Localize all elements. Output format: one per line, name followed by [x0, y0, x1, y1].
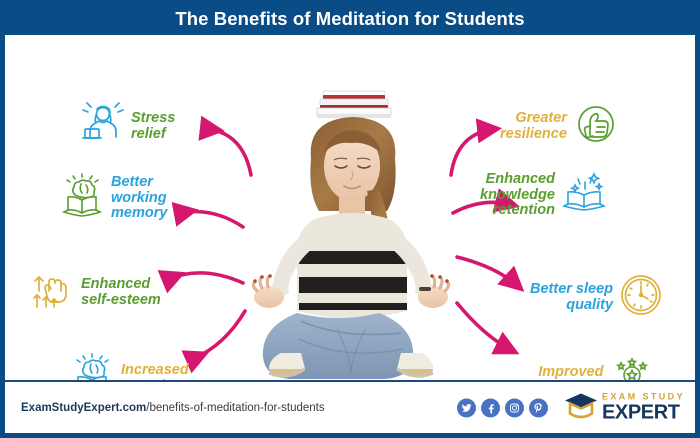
benefit-label: Greater resilience — [500, 111, 567, 142]
content-panel: Stress relief Better working memory — [4, 34, 696, 434]
logo-bottom-text: EXPERT — [602, 403, 685, 423]
benefit-stress-relief[interactable]: Stress relief — [79, 101, 175, 152]
graduation-cap-icon — [564, 390, 598, 425]
benefit-label: Stress relief — [131, 111, 175, 142]
clock-icon — [619, 273, 663, 322]
url-path: /benefits-of-meditation-for-students — [146, 402, 324, 414]
benefit-better-sleep-quality[interactable]: Better sleep quality — [530, 273, 663, 322]
instagram-icon[interactable] — [505, 398, 524, 417]
benefits-stage: Stress relief Better working memory — [5, 35, 695, 380]
url-domain: ExamStudyExpert.com — [21, 402, 146, 414]
benefit-label: Better sleep quality — [530, 282, 613, 313]
infographic-poster: The Benefits of Meditation for Students — [0, 0, 700, 438]
benefit-label: Enhanced self-esteem — [81, 277, 161, 308]
title-bar: The Benefits of Meditation for Students — [4, 4, 696, 34]
thumbs-up-circle-icon — [573, 101, 619, 152]
source-url[interactable]: ExamStudyExpert.com/benefits-of-meditati… — [21, 402, 325, 414]
logo-top-text: EXAM STUDY — [602, 393, 685, 402]
book-stack-icon — [317, 91, 391, 118]
arrow-to-memory — [181, 212, 243, 227]
benefit-enhanced-knowledge-retention[interactable]: Enhanced knowledge retention — [480, 170, 607, 221]
brand-logo[interactable]: EXAM STUDY EXPERT — [564, 390, 685, 425]
pinterest-icon[interactable] — [529, 398, 548, 417]
arrow-to-attention — [193, 311, 245, 359]
sparkling-open-book-icon — [561, 170, 607, 221]
stressed-person-laptop-icon — [79, 101, 125, 152]
brain-book-icon — [59, 173, 105, 224]
page-title: The Benefits of Meditation for Students — [175, 8, 524, 30]
arrow-to-mental — [457, 303, 513, 351]
social-links — [457, 398, 548, 417]
facebook-icon[interactable] — [481, 398, 500, 417]
right-shoe — [397, 353, 433, 377]
benefit-greater-resilience[interactable]: Greater resilience — [500, 101, 619, 152]
twitter-icon[interactable] — [457, 398, 476, 417]
footer: ExamStudyExpert.com/benefits-of-meditati… — [5, 380, 695, 433]
raised-fist-arrows-icon — [29, 267, 75, 318]
benefit-better-working-memory[interactable]: Better working memory — [59, 173, 167, 224]
benefit-label: Enhanced knowledge retention — [480, 172, 555, 219]
meditating-student-photo — [241, 81, 461, 381]
benefit-label: Better working memory — [111, 175, 167, 222]
arrow-to-esteem — [169, 273, 243, 283]
benefit-enhanced-self-esteem[interactable]: Enhanced self-esteem — [29, 267, 161, 318]
arrow-to-sleep — [457, 257, 519, 287]
